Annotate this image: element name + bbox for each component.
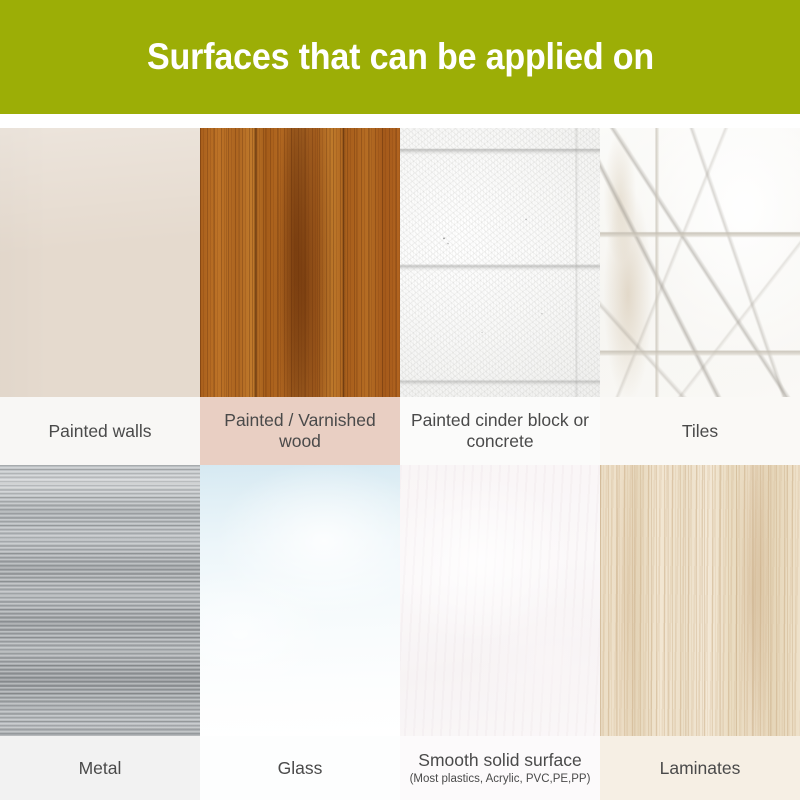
surface-caption-metal: Metal	[0, 736, 200, 800]
surface-image-metal	[0, 465, 200, 736]
surface-label: Tiles	[682, 421, 718, 442]
surface-caption-laminates: Laminates	[600, 736, 800, 800]
surface-label: Painted walls	[48, 421, 151, 442]
surface-sublabel: (Most plastics, Acrylic, PVC,PE,PP)	[410, 772, 591, 786]
surface-image-laminates	[600, 465, 800, 736]
texture-orange-brown-oak-planks	[200, 128, 400, 397]
surface-cell-metal[interactable]: Metal	[0, 465, 200, 800]
surface-grid: Painted walls Painted / Varnished wood P…	[0, 128, 800, 800]
surface-cell-laminates[interactable]: Laminates	[600, 465, 800, 800]
surface-cell-smooth-solid-surface[interactable]: Smooth solid surface (Most plastics, Acr…	[400, 465, 600, 800]
surface-cell-painted-cinder-block[interactable]: Painted cinder block or concrete	[400, 128, 600, 465]
surface-cell-tiles[interactable]: Tiles	[600, 128, 800, 465]
surface-caption-painted-varnished-wood: Painted / Varnished wood	[200, 397, 400, 465]
surface-image-smooth-solid-surface	[400, 465, 600, 736]
texture-brushed-stainless-steel	[0, 465, 200, 736]
texture-pale-blue-glass-gradient	[200, 465, 400, 736]
surface-caption-tiles: Tiles	[600, 397, 800, 465]
surface-image-painted-walls	[0, 128, 200, 397]
texture-white-carrara-marble-tiles	[600, 128, 800, 397]
texture-near-white-solid-surface	[400, 465, 600, 736]
surface-cell-glass[interactable]: Glass	[200, 465, 400, 800]
surface-label: Laminates	[660, 758, 741, 779]
surface-image-tiles	[600, 128, 800, 397]
texture-flat-beige-paint	[0, 128, 200, 397]
surface-caption-painted-cinder-block: Painted cinder block or concrete	[400, 397, 600, 465]
surface-label: Painted cinder block or concrete	[406, 410, 594, 452]
surface-label: Metal	[79, 758, 122, 779]
surface-label: Smooth solid surface	[418, 750, 581, 771]
surface-caption-smooth-solid-surface: Smooth solid surface (Most plastics, Acr…	[400, 736, 600, 800]
surface-label: Painted / Varnished wood	[206, 410, 394, 452]
surfaces-poster: Surfaces that can be applied on Painted …	[0, 0, 800, 800]
surface-image-glass	[200, 465, 400, 736]
surface-cell-painted-walls[interactable]: Painted walls	[0, 128, 200, 465]
surface-caption-glass: Glass	[200, 736, 400, 800]
texture-white-painted-cinder-block	[400, 128, 600, 397]
surface-image-painted-cinder-block	[400, 128, 600, 397]
surface-cell-painted-varnished-wood[interactable]: Painted / Varnished wood	[200, 128, 400, 465]
surface-label: Glass	[278, 758, 323, 779]
page-title: Surfaces that can be applied on	[147, 38, 654, 77]
surface-caption-painted-walls: Painted walls	[0, 397, 200, 465]
header-banner: Surfaces that can be applied on	[0, 0, 800, 114]
surface-image-painted-varnished-wood	[200, 128, 400, 397]
texture-light-blonde-oak-laminate	[600, 465, 800, 736]
